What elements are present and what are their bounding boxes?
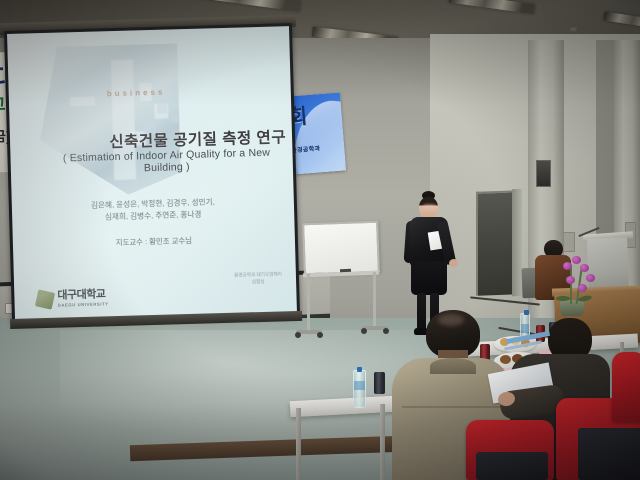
projection-screen: business 신축건물 공기질 측정 연구 ( Estimation of … xyxy=(4,23,300,323)
whiteboard-leg xyxy=(373,272,376,328)
orchid-flower xyxy=(566,276,575,284)
whiteboard-marker[interactable] xyxy=(340,269,351,272)
logo-name-en: DAEGU UNIVERSITY xyxy=(58,302,109,308)
presenter-skirt xyxy=(411,261,447,295)
whiteboard-caster xyxy=(317,332,323,338)
orchid-flower xyxy=(586,274,595,282)
audience-jacket-seam xyxy=(402,406,502,408)
logo-name-kr: 대구대학교 xyxy=(57,289,108,301)
orchid-flower xyxy=(580,264,589,272)
audience-hair-highlight xyxy=(438,314,464,326)
slide-accent-square xyxy=(157,104,167,114)
screen-frame: business 신축건물 공기질 측정 연구 ( Estimation of … xyxy=(4,23,300,323)
whiteboard-leg xyxy=(307,274,310,332)
orchid-flower xyxy=(563,262,572,270)
ceiling-light-fixture xyxy=(195,0,301,12)
mobile-whiteboard xyxy=(302,221,380,276)
table-leg xyxy=(380,404,385,480)
drink-can[interactable] xyxy=(374,372,385,394)
orchid-flower xyxy=(578,284,587,292)
presenter-hand xyxy=(448,258,459,268)
table-leg xyxy=(296,408,301,480)
slide-accent-square xyxy=(171,115,179,123)
orchid-pot xyxy=(560,300,584,316)
slide-credit-line2: 실험실 xyxy=(234,277,282,285)
orchid-leaf xyxy=(556,296,570,301)
ceiling-sprinkler xyxy=(570,27,577,31)
orchid-stem xyxy=(570,266,572,304)
wall-speaker-icon xyxy=(536,160,551,187)
ceiling-light-fixture xyxy=(449,0,536,14)
audience-jacket-collar xyxy=(430,358,476,374)
slide-watermark-text: business xyxy=(107,88,166,99)
bottle-label xyxy=(354,381,365,390)
presenter-face xyxy=(422,205,437,216)
university-logo: 대구대학교 DAEGU UNIVERSITY xyxy=(36,289,108,308)
presentation-room-photo: 대 교 (금) 발표회 표회 대구대학교 환경공학과 xyxy=(0,0,640,480)
slide-authors: 김은혜, 윤성은, 박정현, 김경우, 성민기, 심재희, 김병수, 주연준, … xyxy=(12,194,295,226)
door-leaf[interactable] xyxy=(512,189,522,297)
whiteboard-caster xyxy=(295,332,301,338)
auditorium-seat-back xyxy=(578,428,640,480)
orchid-flower xyxy=(572,256,581,264)
whiteboard-caster xyxy=(361,328,367,334)
slide-credit: 환경공학과 대기오염제어 실험실 xyxy=(234,270,282,285)
auditorium-seat[interactable] xyxy=(612,352,640,422)
logo-mark-icon xyxy=(35,289,55,309)
auditorium-seat-back xyxy=(476,452,548,480)
water-bottle[interactable] xyxy=(353,370,366,408)
projected-slide: business 신축건물 공기질 측정 연구 ( Estimation of … xyxy=(7,26,297,320)
slide-advisor: 지도교수 : 황민조 교수님 xyxy=(13,232,295,251)
ceiling-light-fixture xyxy=(603,11,640,31)
whiteboard-caster xyxy=(383,328,389,334)
